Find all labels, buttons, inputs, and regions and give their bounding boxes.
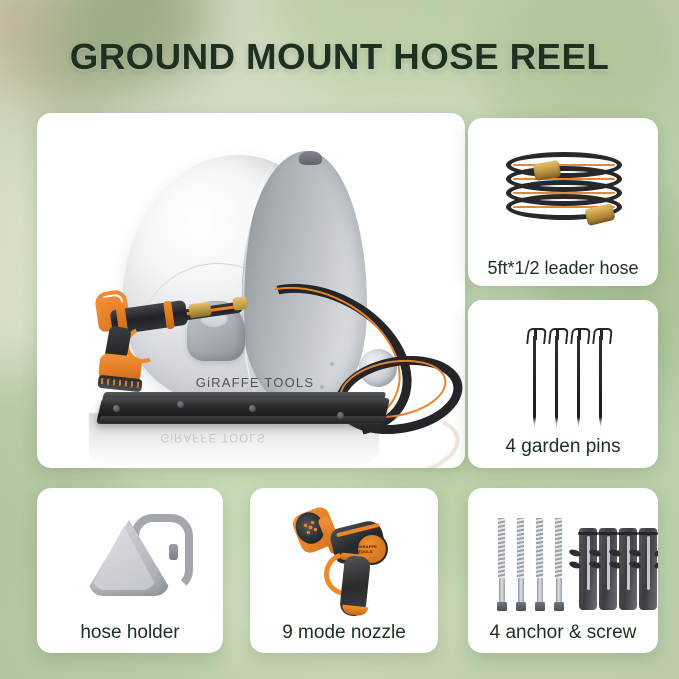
garden-pins-group (468, 326, 658, 434)
accessory-card-hose-holder[interactable]: hose holder (37, 488, 223, 653)
accessory-card-garden-pins[interactable]: 4 garden pins (468, 300, 658, 468)
accessory-card-leader-hose[interactable]: 5ft*1/2 leader hose (468, 118, 658, 286)
brand-badge-label: GiRAFFE TOOLS (358, 544, 386, 554)
reflection-brand-text: GiRAFFE TOOLS (113, 431, 313, 443)
screw (513, 518, 527, 612)
screw (494, 518, 508, 612)
brass-coupler (232, 296, 248, 311)
reel-top-nub (299, 151, 322, 165)
base-plate-edge (99, 416, 387, 423)
caption-garden-pins: 4 garden pins (468, 436, 658, 458)
garden-pin (570, 326, 588, 434)
base-bolt-icon (113, 405, 120, 412)
base-bolt-icon (337, 412, 344, 419)
garden-pin (592, 326, 610, 434)
base-bolt-icon (249, 405, 256, 412)
caption-nozzle: 9 mode nozzle (250, 622, 438, 644)
spray-nozzle: GiRAFFE TOOLS (294, 502, 404, 620)
nozzle-grip-bottom-band (342, 605, 369, 617)
hose-reel-illustration: GiRAFFE TOOLS (37, 113, 465, 468)
hose-holder (89, 514, 185, 600)
page-title: GROUND MOUNT HOSE REEL (0, 36, 679, 78)
product-brand-text: GiRAFFE TOOLS (155, 375, 355, 390)
caption-hose-holder: hose holder (37, 622, 223, 644)
screw (551, 518, 565, 612)
base-bolt-icon (177, 401, 184, 408)
accessory-card-anchor-screw[interactable]: 4 anchor & screw (468, 488, 658, 653)
coiled-hose (506, 152, 624, 224)
holder-tab (169, 544, 178, 560)
accessory-card-nozzle[interactable]: GiRAFFE TOOLS 9 mode nozzle (250, 488, 438, 653)
wall-anchor (636, 528, 658, 610)
screw (532, 518, 546, 612)
garden-pin (548, 326, 566, 434)
anchor-screw-group (468, 514, 658, 614)
garden-pin (526, 326, 544, 434)
caption-anchor-screw: 4 anchor & screw (468, 622, 658, 644)
caption-leader-hose: 5ft*1/2 leader hose (468, 258, 658, 279)
main-product-card[interactable]: GiRAFFE TOOLS (37, 113, 465, 468)
